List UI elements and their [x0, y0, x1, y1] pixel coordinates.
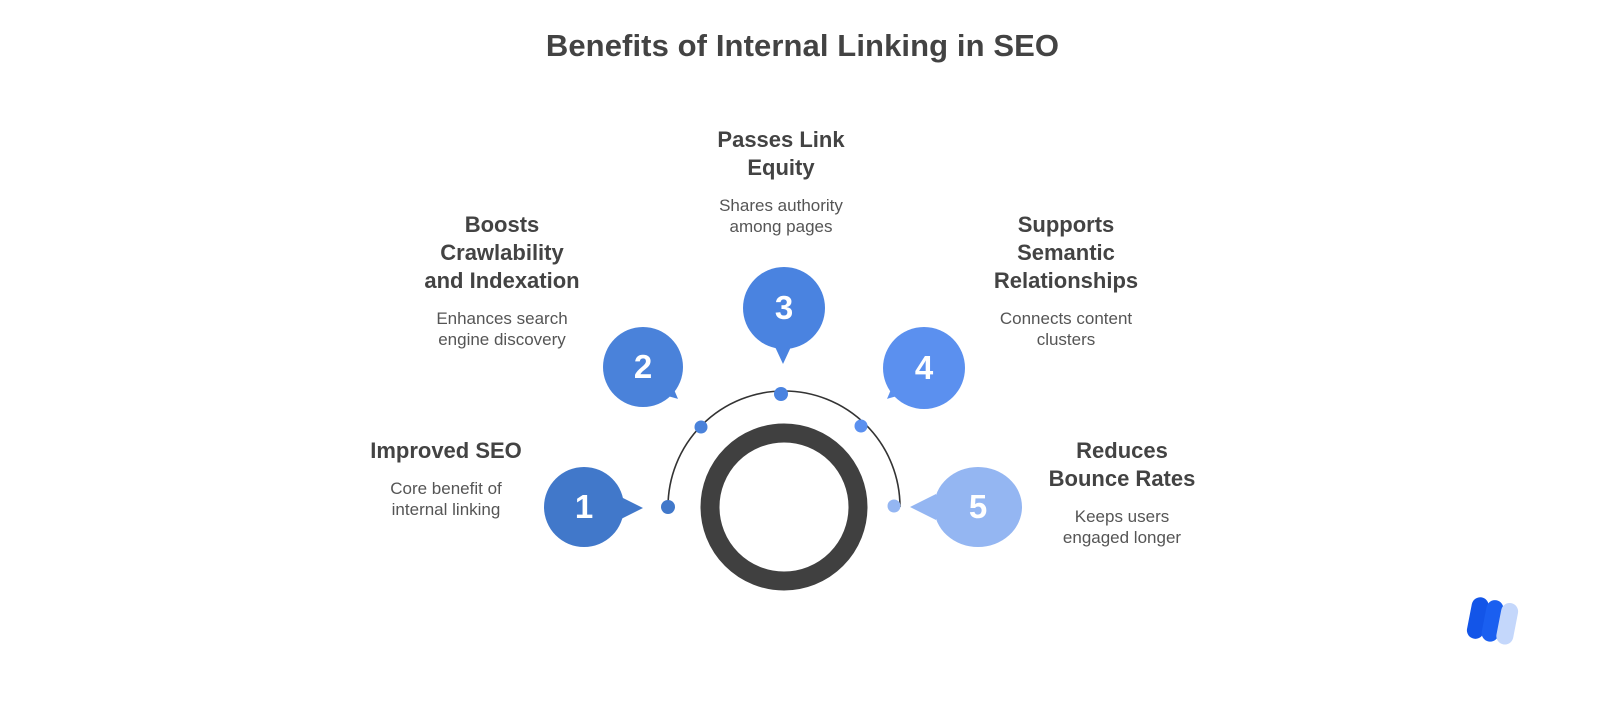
callout-label-3: Passes Link Equity Shares authority amon… — [684, 126, 878, 237]
center-ring — [710, 433, 858, 581]
numbered-bubble-4[interactable]: 4 — [883, 327, 965, 409]
brand-logo-icon — [1465, 596, 1521, 646]
arc-dot-1 — [661, 500, 675, 514]
bubble-number-1: 1 — [575, 490, 593, 523]
infographic-canvas: Benefits of Internal Linking in SEO 1 2 … — [0, 0, 1605, 707]
bubble-tail-5 — [910, 494, 936, 520]
numbered-bubble-1[interactable]: 1 — [544, 467, 624, 547]
page-title: Benefits of Internal Linking in SEO — [0, 28, 1605, 64]
callout-heading-1: Improved SEO — [336, 437, 556, 465]
connector-arc — [668, 391, 900, 507]
bubble-number-5: 5 — [969, 490, 987, 523]
callout-subtext-4: Connects content clusters — [956, 308, 1176, 350]
callout-heading-4: Supports Semantic Relationships — [956, 211, 1176, 295]
callout-subtext-5: Keeps users engaged longer — [1012, 506, 1232, 548]
callout-subtext-1: Core benefit of internal linking — [336, 478, 556, 520]
callout-label-1: Improved SEO Core benefit of internal li… — [336, 437, 556, 520]
arc-dot-5 — [888, 500, 901, 513]
bubble-number-3: 3 — [775, 291, 793, 324]
diagram-stage — [0, 0, 1605, 707]
callout-heading-2: Boosts Crawlability and Indexation — [392, 211, 612, 295]
callout-heading-3: Passes Link Equity — [684, 126, 878, 182]
numbered-bubble-2[interactable]: 2 — [603, 327, 683, 407]
bubble-number-2: 2 — [634, 350, 652, 383]
arc-dot-2 — [695, 421, 708, 434]
callout-heading-5: Reduces Bounce Rates — [1012, 437, 1232, 493]
arc-dot-3 — [774, 387, 788, 401]
numbered-bubble-5[interactable]: 5 — [934, 467, 1022, 547]
bubble-number-4: 4 — [915, 351, 933, 384]
callout-subtext-3: Shares authority among pages — [684, 195, 878, 237]
callout-label-5: Reduces Bounce Rates Keeps users engaged… — [1012, 437, 1232, 548]
numbered-bubble-3[interactable]: 3 — [743, 267, 825, 349]
callout-label-4: Supports Semantic Relationships Connects… — [956, 211, 1176, 350]
callout-label-2: Boosts Crawlability and Indexation Enhan… — [392, 211, 612, 350]
arc-dot-4 — [855, 420, 868, 433]
callout-subtext-2: Enhances search engine discovery — [392, 308, 612, 350]
